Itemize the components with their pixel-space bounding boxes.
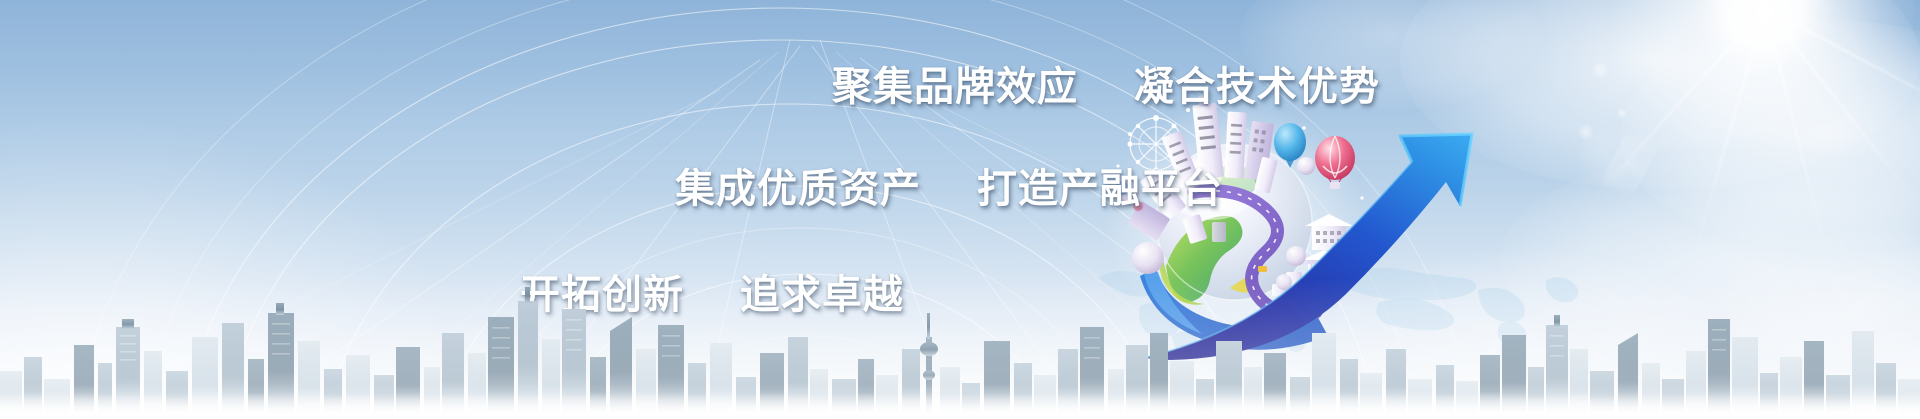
hero-banner: 聚集品牌效应 凝合技术优势 集成优质资产 打造产融平台 开拓创新 追求卓越 bbox=[0, 0, 1920, 419]
lens-flare bbox=[1745, 45, 1753, 53]
headline-1-left: 聚集品牌效应 bbox=[832, 64, 1078, 110]
sun-ray bbox=[1764, 7, 1920, 213]
sun-ray bbox=[1692, 8, 1766, 258]
headline-2-left: 集成优质资产 bbox=[675, 166, 921, 212]
lens-flare bbox=[1578, 124, 1594, 140]
headline-line-2: 集成优质资产 打造产融平台 bbox=[675, 156, 1223, 214]
sun-flare-icon bbox=[1614, 0, 1914, 158]
headline-1-right: 凝合技术优势 bbox=[1134, 64, 1380, 110]
headline-2-right: 打造产融平台 bbox=[977, 166, 1223, 212]
city-skyline bbox=[0, 279, 1920, 419]
lens-flare bbox=[1617, 108, 1627, 118]
cloud bbox=[1620, 20, 1920, 250]
lens-flare bbox=[1577, 126, 1637, 186]
sun-ray bbox=[1765, 7, 1920, 131]
lens-flare bbox=[1592, 62, 1608, 78]
sun-ray bbox=[1764, 8, 1829, 261]
lens-flare bbox=[1593, 115, 1667, 211]
headline-line-1: 聚集品牌效应 凝合技术优势 bbox=[832, 54, 1380, 112]
sun-ray bbox=[1590, 7, 1765, 202]
